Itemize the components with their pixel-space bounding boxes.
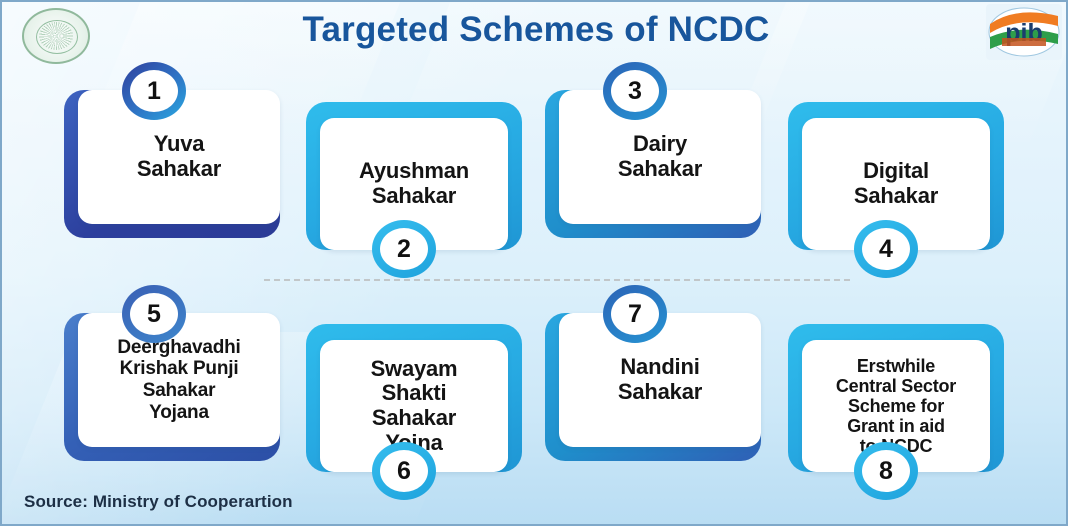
scheme-card-3[interactable]: DairySahakar 3: [545, 90, 761, 238]
badge-number: 3: [628, 77, 642, 106]
row-divider: [264, 279, 850, 281]
scheme-card-5[interactable]: DeerghavadhiKrishak PunjiSahakarYojana 5: [64, 313, 280, 461]
badge-number: 1: [147, 77, 161, 106]
scheme-card-8[interactable]: ErstwhileCentral SectorScheme forGrant i…: [788, 324, 1004, 472]
page-title: Targeted Schemes of NCDC: [2, 10, 1068, 50]
scheme-label: DigitalSahakar: [854, 159, 938, 208]
badge-number: 7: [628, 300, 642, 329]
scheme-number-badge: 6: [372, 442, 436, 500]
pib-logo-icon: pib: [986, 4, 1062, 60]
card-panel: YuvaSahakar: [78, 90, 280, 224]
scheme-label: SwayamShaktiSahakarYojna: [371, 357, 458, 456]
pib-logo-svg: pib: [986, 4, 1062, 60]
badge-number: 6: [397, 457, 411, 486]
scheme-number-badge: 7: [603, 285, 667, 343]
scheme-card-4[interactable]: DigitalSahakar 4: [788, 102, 1004, 250]
card-panel: NandiniSahakar: [559, 313, 761, 447]
scheme-number-badge: 8: [854, 442, 918, 500]
scheme-number-badge: 5: [122, 285, 186, 343]
badge-number: 4: [879, 235, 893, 264]
card-panel: DeerghavadhiKrishak PunjiSahakarYojana: [78, 313, 280, 447]
infographic-poster: Targeted Schemes of NCDC pib YuvaSahakar…: [0, 0, 1068, 526]
card-panel: DairySahakar: [559, 90, 761, 224]
scheme-number-badge: 2: [372, 220, 436, 278]
scheme-label: YuvaSahakar: [137, 132, 221, 181]
scheme-label: DairySahakar: [618, 132, 702, 181]
scheme-number-badge: 4: [854, 220, 918, 278]
source-caption: Source: Ministry of Cooperartion: [24, 492, 293, 512]
scheme-label: AyushmanSahakar: [359, 159, 469, 208]
badge-number: 5: [147, 300, 161, 329]
badge-number: 8: [879, 457, 893, 486]
scheme-card-7[interactable]: NandiniSahakar 7: [545, 313, 761, 461]
scheme-label: NandiniSahakar: [618, 355, 702, 404]
poster-header: Targeted Schemes of NCDC pib: [2, 2, 1068, 68]
scheme-number-badge: 1: [122, 62, 186, 120]
scheme-card-2[interactable]: AyushmanSahakar 2: [306, 102, 522, 250]
scheme-label: ErstwhileCentral SectorScheme forGrant i…: [836, 356, 956, 457]
scheme-label: DeerghavadhiKrishak PunjiSahakarYojana: [117, 337, 240, 424]
scheme-card-6[interactable]: SwayamShaktiSahakarYojna 6: [306, 324, 522, 472]
scheme-card-1[interactable]: YuvaSahakar 1: [64, 90, 280, 238]
badge-number: 2: [397, 235, 411, 264]
scheme-number-badge: 3: [603, 62, 667, 120]
